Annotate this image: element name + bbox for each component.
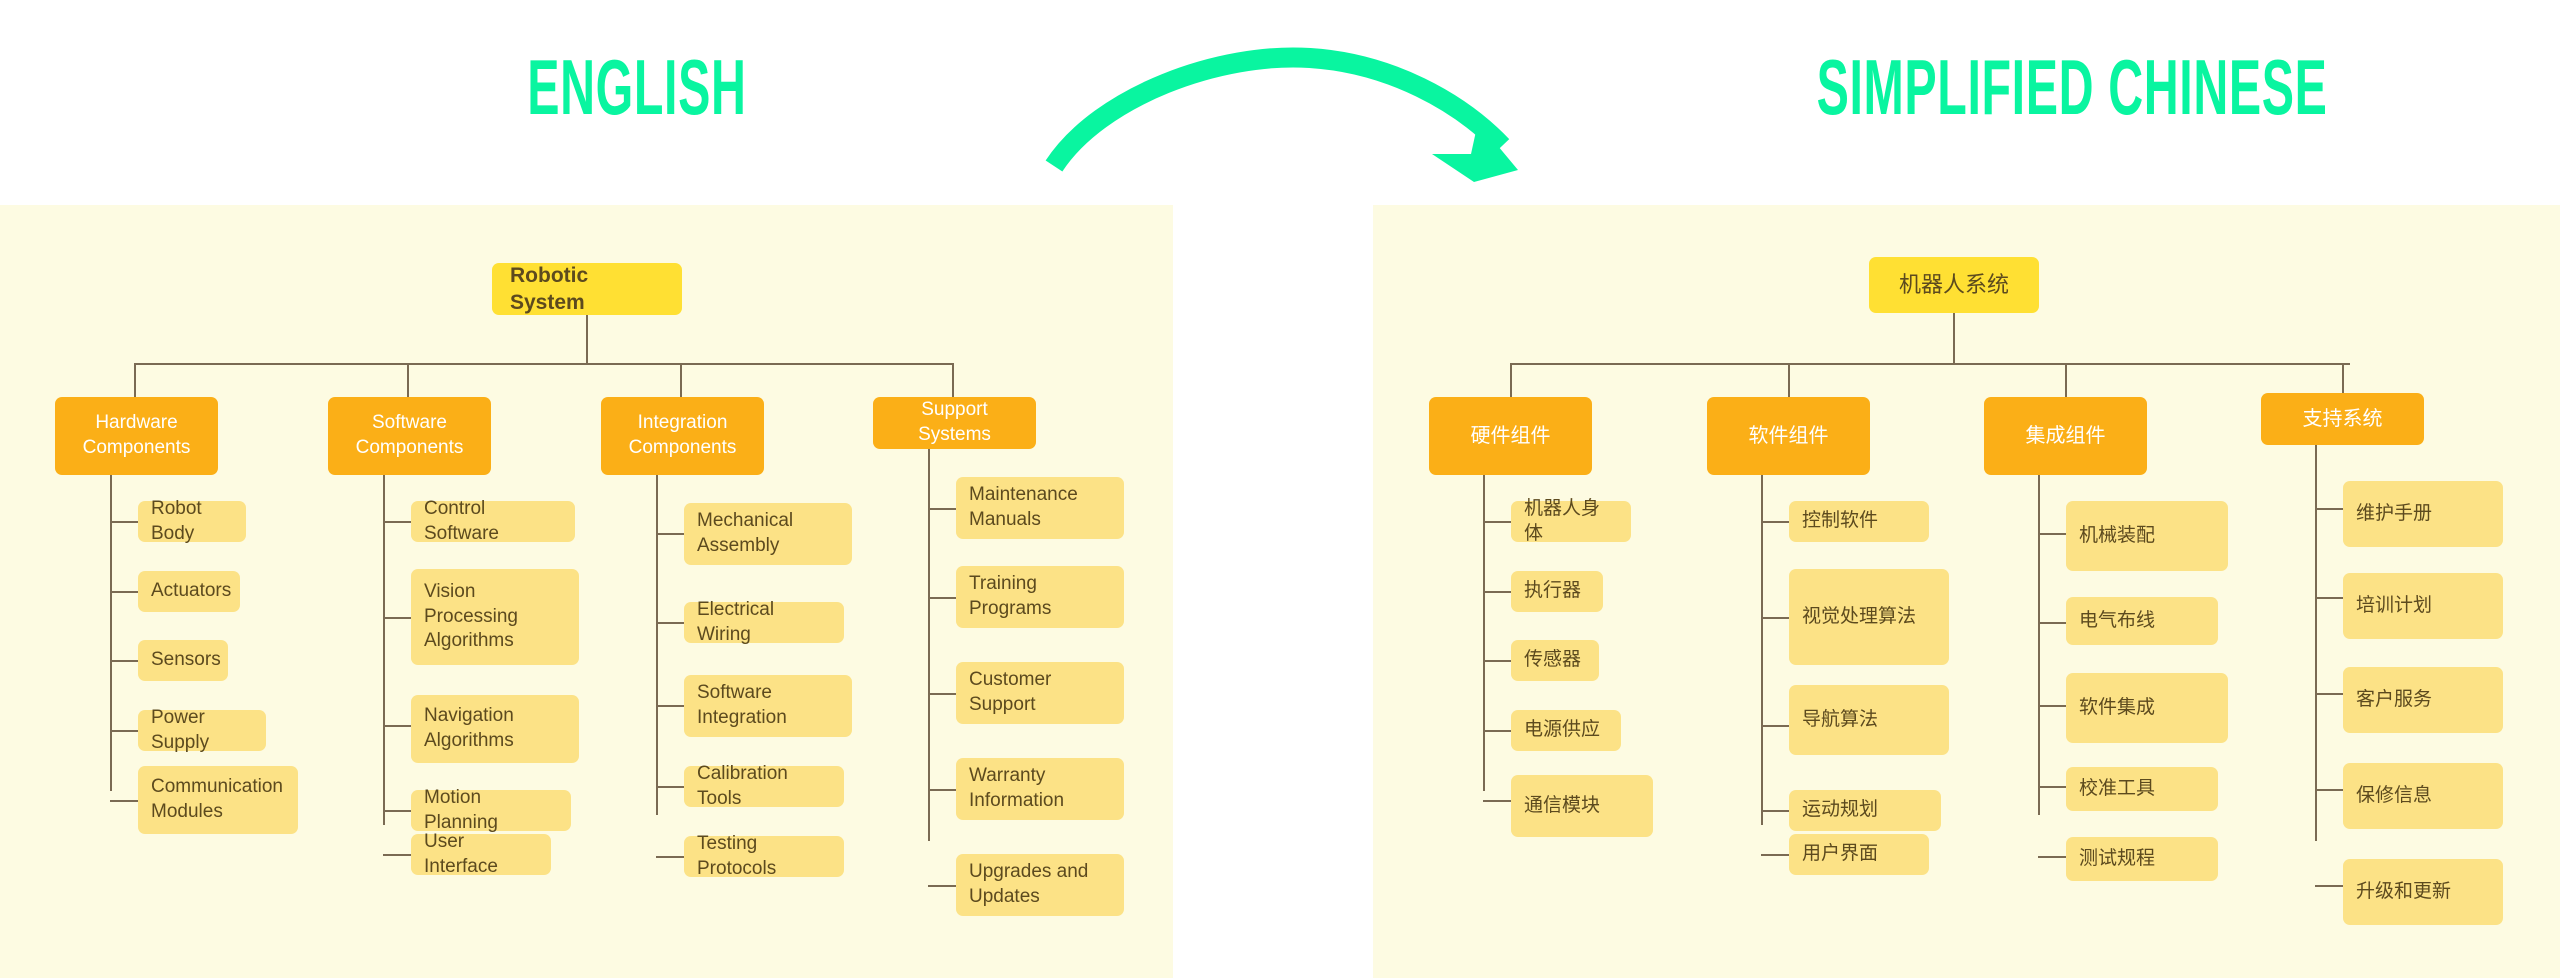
node-leaf[interactable]: 机械装配 <box>2066 501 2228 571</box>
connector-root-bus <box>1510 363 2350 365</box>
connector-leaf-stub <box>110 591 138 593</box>
connector-root-bus <box>134 363 952 365</box>
connector-leaf-stub <box>110 660 138 662</box>
node-leaf[interactable]: 运动规划 <box>1789 790 1941 831</box>
node-root-chinese[interactable]: 机器人系统 <box>1869 257 2039 313</box>
connector-branch-drop-1 <box>134 363 136 397</box>
node-leaf[interactable]: Motion Planning <box>411 790 571 831</box>
node-leaf[interactable]: Power Supply <box>138 710 266 751</box>
connector-leaf-stub <box>656 786 684 788</box>
connector-branch-drop-2 <box>1788 363 1790 397</box>
connector-leaf-stub <box>656 705 684 707</box>
connector-leaf-stub <box>1761 810 1789 812</box>
connector-leaf-stub <box>2038 786 2066 788</box>
connector-leaf-stub <box>110 730 138 732</box>
node-root-english[interactable]: Robotic System <box>492 263 682 315</box>
connector-spine-3 <box>2038 473 2040 815</box>
connector-branch-drop-4 <box>2342 363 2344 397</box>
node-leaf[interactable]: Warranty Information <box>956 758 1124 820</box>
connector-leaf-stub <box>2038 705 2066 707</box>
node-leaf[interactable]: 升级和更新 <box>2343 859 2503 925</box>
connector-branch-drop-1 <box>1510 363 1512 397</box>
connector-leaf-stub <box>2315 597 2343 599</box>
connector-leaf-stub <box>2038 622 2066 624</box>
node-leaf[interactable]: 通信模块 <box>1511 775 1653 837</box>
node-leaf[interactable]: 电源供应 <box>1511 710 1621 751</box>
connector-leaf-stub <box>1761 521 1789 523</box>
connector-leaf-stub <box>928 789 956 791</box>
connector-spine-3 <box>656 473 658 815</box>
connector-leaf-stub <box>383 725 411 727</box>
connector-leaf-stub <box>928 508 956 510</box>
connector-branch-drop-4 <box>952 363 954 397</box>
node-branch-hardware-components-zh[interactable]: 硬件组件 <box>1429 397 1592 475</box>
node-leaf[interactable]: 软件集成 <box>2066 673 2228 743</box>
connector-leaf-stub <box>1761 725 1789 727</box>
connector-leaf-stub <box>656 533 684 535</box>
node-leaf[interactable]: Sensors <box>138 640 228 681</box>
node-leaf[interactable]: Customer Support <box>956 662 1124 724</box>
node-leaf[interactable]: 视觉处理算法 <box>1789 569 1949 665</box>
english-diagram-panel: Robotic System Hardware Components Softw… <box>0 205 1173 978</box>
connector-spine-4 <box>2315 463 2317 841</box>
connector-leaf-stub <box>110 800 138 802</box>
connector-branch-drop-2 <box>407 363 409 397</box>
connector-leaf-stub <box>2315 693 2343 695</box>
node-leaf[interactable]: 维护手册 <box>2343 481 2503 547</box>
connector-leaf-stub <box>2038 533 2066 535</box>
connector-leaf-stub <box>1483 800 1511 802</box>
node-leaf[interactable]: Navigation Algorithms <box>411 695 579 763</box>
connector-spine-4 <box>928 463 930 841</box>
node-leaf[interactable]: Communication Modules <box>138 766 298 834</box>
node-leaf[interactable]: 保修信息 <box>2343 763 2503 829</box>
connector-leaf-stub <box>2315 885 2343 887</box>
connector-spine-2 <box>1761 473 1763 825</box>
node-leaf[interactable]: User Interface <box>411 834 551 875</box>
node-leaf[interactable]: 导航算法 <box>1789 685 1949 755</box>
node-leaf[interactable]: 机器人身体 <box>1511 501 1631 542</box>
node-leaf[interactable]: 电气布线 <box>2066 597 2218 645</box>
connector-leaf-stub <box>110 521 138 523</box>
node-leaf[interactable]: 测试规程 <box>2066 837 2218 881</box>
page-root: ENGLISH SIMPLIFIED CHINESE <box>0 0 2560 978</box>
connector-leaf-stub <box>928 597 956 599</box>
connector-leaf-stub <box>1483 730 1511 732</box>
node-branch-software-components[interactable]: Software Components <box>328 397 491 475</box>
connector-leaf-stub <box>1483 660 1511 662</box>
connector-leaf-stub <box>1483 521 1511 523</box>
node-leaf[interactable]: Electrical Wiring <box>684 602 844 643</box>
node-leaf[interactable]: Maintenance Manuals <box>956 477 1124 539</box>
node-leaf[interactable]: Mechanical Assembly <box>684 503 852 565</box>
node-leaf[interactable]: 执行器 <box>1511 571 1603 612</box>
connector-leaf-stub <box>383 617 411 619</box>
node-leaf[interactable]: Actuators <box>138 571 240 612</box>
node-leaf[interactable]: Calibration Tools <box>684 766 844 807</box>
connector-branch-drop-3 <box>680 363 682 397</box>
connector-leaf-stub <box>928 885 956 887</box>
node-branch-hardware-components[interactable]: Hardware Components <box>55 397 218 475</box>
connector-leaf-stub <box>383 521 411 523</box>
connector-leaf-stub <box>383 854 411 856</box>
node-branch-integration-components[interactable]: Integration Components <box>601 397 764 475</box>
node-leaf[interactable]: 用户界面 <box>1789 834 1929 875</box>
connector-branch-drop-3 <box>2065 363 2067 397</box>
node-leaf[interactable]: Training Programs <box>956 566 1124 628</box>
node-leaf[interactable]: Upgrades and Updates <box>956 854 1124 916</box>
chinese-diagram-panel: 机器人系统 硬件组件 软件组件 集成组件 支持系统 机器人身体 执行器 传感器 … <box>1373 205 2560 978</box>
node-branch-software-components-zh[interactable]: 软件组件 <box>1707 397 1870 475</box>
connector-leaf-stub <box>2315 789 2343 791</box>
node-leaf[interactable]: 控制软件 <box>1789 501 1929 542</box>
connector-leaf-stub <box>1483 591 1511 593</box>
node-leaf[interactable]: 培训计划 <box>2343 573 2503 639</box>
node-branch-support-systems-zh[interactable]: 支持系统 <box>2261 393 2424 445</box>
page-title-english: ENGLISH <box>527 48 746 126</box>
connector-spine-2 <box>383 473 385 825</box>
english-tree-canvas: Robotic System Hardware Components Softw… <box>0 205 1173 978</box>
connector-leaf-stub <box>2038 856 2066 858</box>
connector-leaf-stub <box>928 693 956 695</box>
node-leaf[interactable]: Control Software <box>411 501 575 542</box>
connector-leaf-stub <box>383 810 411 812</box>
node-branch-support-systems[interactable]: Support Systems <box>873 397 1036 449</box>
node-leaf[interactable]: 校准工具 <box>2066 767 2218 811</box>
node-leaf[interactable]: Vision Processing Algorithms <box>411 569 579 665</box>
connector-leaf-stub <box>656 856 684 858</box>
connector-root-stem <box>586 315 588 365</box>
node-leaf[interactable]: 客户服务 <box>2343 667 2503 733</box>
node-leaf[interactable]: 传感器 <box>1511 640 1599 681</box>
connector-leaf-stub <box>2315 508 2343 510</box>
curved-arrow-right-icon <box>1040 30 1560 190</box>
chinese-tree-canvas: 机器人系统 硬件组件 软件组件 集成组件 支持系统 机器人身体 执行器 传感器 … <box>1373 205 2560 978</box>
node-leaf[interactable]: Testing Protocols <box>684 836 844 877</box>
node-leaf[interactable]: Robot Body <box>138 501 246 542</box>
page-title-simplified-chinese: SIMPLIFIED CHINESE <box>1817 48 2328 126</box>
node-leaf[interactable]: Software Integration <box>684 675 852 737</box>
connector-root-stem <box>1953 313 1955 365</box>
connector-leaf-stub <box>656 622 684 624</box>
node-branch-integration-components-zh[interactable]: 集成组件 <box>1984 397 2147 475</box>
connector-leaf-stub <box>1761 854 1789 856</box>
connector-leaf-stub <box>1761 617 1789 619</box>
